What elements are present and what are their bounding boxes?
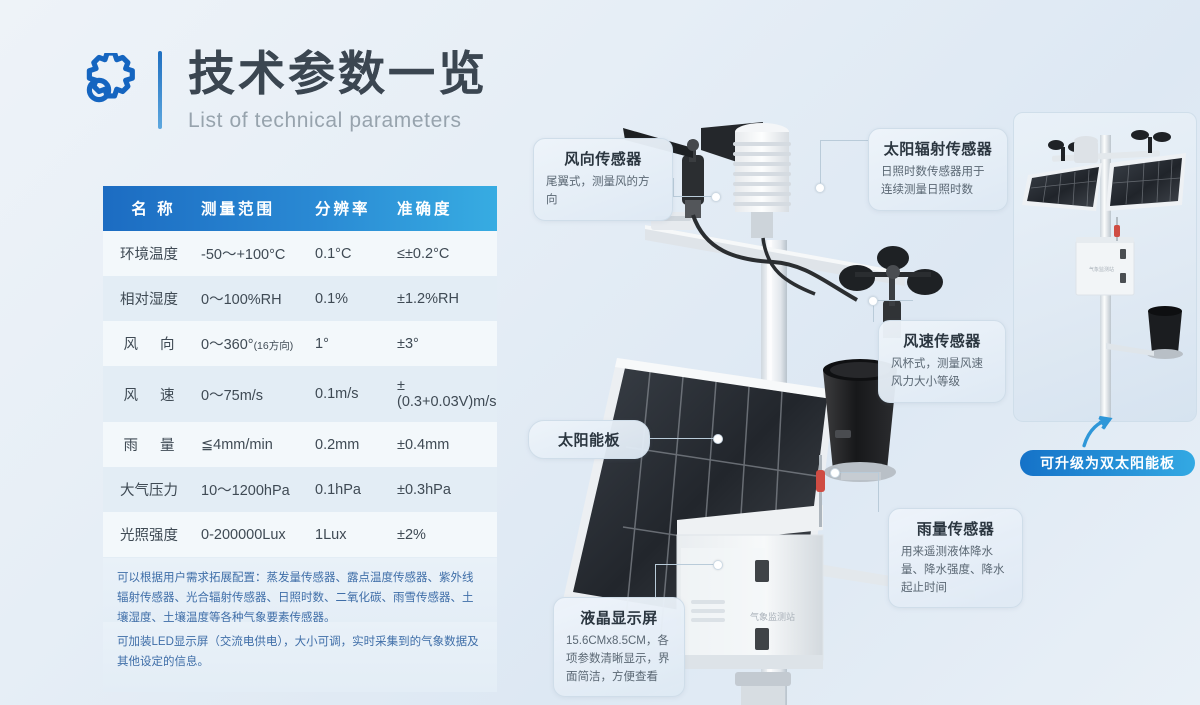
cell-resolution: 0.1m/s bbox=[315, 366, 397, 422]
gear-icon bbox=[62, 53, 136, 127]
svg-text:气象监测站: 气象监测站 bbox=[1089, 266, 1114, 273]
connector-line-panel bbox=[650, 438, 718, 439]
column-header-range: 测量范围 bbox=[195, 186, 315, 231]
cell-resolution: 0.2mm bbox=[315, 422, 397, 467]
callout-rain-gauge[interactable]: 雨量传感器 用来遥测液体降水量、降水强度、降水起止时间 bbox=[888, 508, 1023, 608]
cell-resolution: 0.1% bbox=[315, 276, 397, 321]
connector-line-lcd-v bbox=[655, 564, 656, 600]
cell-range: ≦4mm/min bbox=[195, 422, 315, 467]
callout-solar-radiation[interactable]: 太阳辐射传感器 日照时数传感器用于连续测量日照时数 bbox=[868, 128, 1008, 211]
product-illustration: 气象监测站 风向传感器 尾翼式，测量风的方向 太阳辐射传感器 日照时数传感器用于… bbox=[505, 0, 1200, 705]
cell-name: 风 向 bbox=[103, 321, 195, 366]
connector-dot-solarrad bbox=[815, 183, 825, 193]
cell-accuracy: ≤±0.2°C bbox=[397, 231, 497, 276]
cell-name: 风 速 bbox=[103, 366, 195, 422]
cell-name: 相对湿度 bbox=[103, 276, 195, 321]
connector-dot-panel bbox=[713, 434, 723, 444]
cell-accuracy: ±1.2%RH bbox=[397, 276, 497, 321]
page-header: 技术参数一览 List of technical parameters bbox=[62, 48, 488, 133]
cell-name: 环境温度 bbox=[103, 231, 195, 276]
connector-dot-winddir bbox=[711, 192, 721, 202]
callout-title: 风速传感器 bbox=[891, 330, 993, 351]
table-header-row: 名 称 测量范围 分辨率 准确度 bbox=[103, 186, 497, 231]
callout-title: 雨量传感器 bbox=[901, 518, 1010, 539]
page-subtitle: List of technical parameters bbox=[188, 109, 488, 133]
callout-desc: 用来遥测液体降水量、降水强度、降水起止时间 bbox=[901, 544, 1010, 597]
cell-resolution: 0.1hPa bbox=[315, 467, 397, 512]
table-row: 风 向 0～360°(16方向) 1° ±3° bbox=[103, 321, 497, 366]
callout-solar-panel[interactable]: 太阳能板 bbox=[528, 420, 650, 459]
table-row: 相对湿度 0～100%RH 0.1% ±1.2%RH bbox=[103, 276, 497, 321]
connector-dot-windspd bbox=[868, 296, 878, 306]
cell-resolution: 1Lux bbox=[315, 512, 397, 557]
table-row: 雨 量 ≦4mm/min 0.2mm ±0.4mm bbox=[103, 422, 497, 467]
callout-desc: 日照时数传感器用于连续测量日照时数 bbox=[881, 164, 995, 200]
cell-accuracy: ±0.4mm bbox=[397, 422, 497, 467]
cell-accuracy: ±3° bbox=[397, 321, 497, 366]
callout-desc: 15.6CMx8.5CM，各项参数清晰显示，界面简洁，方便查看 bbox=[566, 633, 672, 686]
cell-accuracy: ±(0.3+0.03V)m/s bbox=[397, 366, 497, 422]
cell-accuracy: ±0.3hPa bbox=[397, 467, 497, 512]
cabinet-label: 气象监测站 bbox=[750, 611, 795, 623]
connector-line-rain bbox=[878, 472, 879, 512]
table-row: 大气压力 10～1200hPa 0.1hPa ±0.3hPa bbox=[103, 467, 497, 512]
connector-line-winddir-v bbox=[673, 178, 674, 197]
cell-resolution: 1° bbox=[315, 321, 397, 366]
cell-accuracy: ±2% bbox=[397, 512, 497, 557]
cell-range-value: 0～360° bbox=[201, 337, 254, 353]
inset-weather-station-image: 气象监测站 bbox=[1014, 113, 1197, 422]
cell-name: 光照强度 bbox=[103, 512, 195, 557]
page-title: 技术参数一览 bbox=[188, 50, 488, 101]
cell-range: -50～+100°C bbox=[195, 231, 315, 276]
connector-line-windspd-h bbox=[873, 300, 913, 301]
upgrade-badge[interactable]: 可升级为双太阳能板 bbox=[1020, 450, 1195, 476]
cell-range: 0～75m/s bbox=[195, 366, 315, 422]
cell-range: 0～360°(16方向) bbox=[195, 321, 315, 366]
connector-line-rain-h bbox=[835, 472, 879, 473]
connector-line-solarrad-h bbox=[820, 140, 870, 141]
callout-wind-speed[interactable]: 风速传感器 风杯式，测量风速风力大小等级 bbox=[878, 320, 1006, 403]
cell-range: 10～1200hPa bbox=[195, 467, 315, 512]
column-header-name: 名 称 bbox=[103, 186, 195, 231]
spec-table: 名 称 测量范围 分辨率 准确度 环境温度 -50～+100°C 0.1°C ≤… bbox=[103, 186, 497, 602]
callout-title: 太阳能板 bbox=[539, 429, 639, 450]
callout-wind-direction[interactable]: 风向传感器 尾翼式，测量风的方向 bbox=[533, 138, 673, 221]
table-row: 环境温度 -50～+100°C 0.1°C ≤±0.2°C bbox=[103, 231, 497, 276]
table-row: 光照强度 0-200000Lux 1Lux ±2% bbox=[103, 512, 497, 557]
inset-dual-solar-panel: 气象监测站 bbox=[1013, 112, 1197, 422]
cell-range: 0～100%RH bbox=[195, 276, 315, 321]
callout-title: 太阳辐射传感器 bbox=[881, 138, 995, 159]
callout-title: 风向传感器 bbox=[546, 148, 660, 169]
callout-lcd-display[interactable]: 液晶显示屏 15.6CMx8.5CM，各项参数清晰显示，界面简洁，方便查看 bbox=[553, 597, 685, 697]
radiation-shield bbox=[733, 123, 791, 238]
callout-desc: 尾翼式，测量风的方向 bbox=[546, 174, 660, 210]
cell-range: 0-200000Lux bbox=[195, 512, 315, 557]
connector-dot-lcd bbox=[713, 560, 723, 570]
connector-line-lcd bbox=[655, 564, 717, 565]
column-header-resolution: 分辨率 bbox=[315, 186, 397, 231]
connector-line-solarrad bbox=[820, 140, 821, 188]
cell-range-note: (16方向) bbox=[254, 340, 294, 352]
header-divider bbox=[158, 51, 162, 129]
upgrade-arrow-icon bbox=[1079, 415, 1113, 449]
cell-resolution: 0.1°C bbox=[315, 231, 397, 276]
table-row: 风 速 0～75m/s 0.1m/s ±(0.3+0.03V)m/s bbox=[103, 366, 497, 422]
cell-name: 大气压力 bbox=[103, 467, 195, 512]
callout-title: 液晶显示屏 bbox=[566, 607, 672, 628]
cell-name: 雨 量 bbox=[103, 422, 195, 467]
connector-dot-rain bbox=[830, 468, 840, 478]
callout-desc: 风杯式，测量风速风力大小等级 bbox=[891, 356, 993, 392]
note-led-display: 可加装LED显示屏（交流电供电），大小可调，实时采集到的气象数据及其他设定的信息… bbox=[103, 622, 497, 692]
column-header-accuracy: 准确度 bbox=[397, 186, 497, 231]
